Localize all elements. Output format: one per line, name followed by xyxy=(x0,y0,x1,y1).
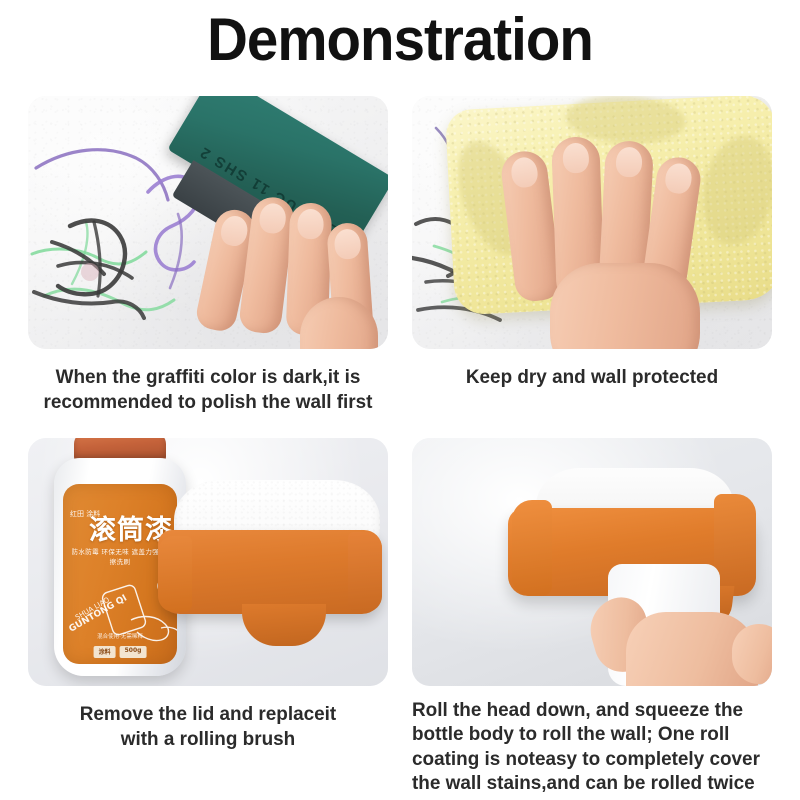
demonstration-page: Demonstration xyxy=(0,0,800,800)
fingernail xyxy=(218,213,250,248)
photo-rolling-paint-onto-wall xyxy=(412,438,772,686)
finger-group xyxy=(732,624,772,684)
fingernail xyxy=(510,156,539,189)
label-chip-weight: 500g xyxy=(120,646,147,658)
caption-line: Remove the lid and replaceit xyxy=(33,702,382,727)
hand-wiping-cloth xyxy=(504,123,754,349)
holder-arm-left xyxy=(512,500,552,596)
caption-line: the wall stains,and can be rolled twice xyxy=(412,771,761,796)
fingernail xyxy=(664,162,694,195)
photo-sanding-sponge-on-graffiti-wall: QETAOUC 11 SHS 2 xyxy=(28,96,388,349)
step-1-caption: When the graffiti color is dark,it is re… xyxy=(33,349,382,416)
holder-arm-right xyxy=(348,532,382,612)
caption-line: Roll the head down, and squeeze the xyxy=(412,698,761,723)
hand-holding-sponge xyxy=(204,157,388,349)
caption-line: recommended to polish the wall first xyxy=(33,390,382,415)
holder-stem xyxy=(242,604,326,646)
steps-row-1: QETAOUC 11 SHS 2 xyxy=(0,96,800,416)
palm xyxy=(550,263,700,349)
caption-line: Keep dry and wall protected xyxy=(417,365,766,390)
step-3-cell: 红田 涂料 滚筒漆 防水防霉 环保无味 遮盖力强 耐擦洗刷 1 xyxy=(0,438,400,800)
fingernail xyxy=(258,202,287,235)
caption-line: When the graffiti color is dark,it is xyxy=(33,365,382,390)
photo-paint-bottle-and-roller-head: 红田 涂料 滚筒漆 防水防霉 环保无味 遮盖力强 耐擦洗刷 1 xyxy=(28,438,388,686)
step-3-caption: Remove the lid and replaceit with a roll… xyxy=(33,686,382,753)
caption-line: with a rolling brush xyxy=(33,727,382,752)
steps-grid: QETAOUC 11 SHS 2 xyxy=(0,96,800,800)
fingernail xyxy=(334,228,362,260)
roller-holder xyxy=(158,530,382,614)
step-4-caption: Roll the head down, and squeeze the bott… xyxy=(412,686,761,800)
step-2-caption: Keep dry and wall protected xyxy=(417,349,766,390)
steps-row-2: 红田 涂料 滚筒漆 防水防霉 环保无味 遮盖力强 耐擦洗刷 1 xyxy=(0,438,800,800)
roller-brush-head xyxy=(158,480,382,670)
page-title: Demonstration xyxy=(24,8,776,71)
step-4-cell: Roll the head down, and squeeze the bott… xyxy=(400,438,800,800)
photo-wiping-wall-with-yellow-cloth xyxy=(412,96,772,349)
caption-line: bottle body to roll the wall; One roll xyxy=(412,722,761,747)
caption-line: after ten minutes xyxy=(412,796,761,800)
step-2-cell: Keep dry and wall protected xyxy=(400,96,800,416)
hand-squeezing-bottle xyxy=(582,572,772,686)
label-footer-text: 混合使用·无需稀释 xyxy=(71,633,169,641)
label-chip: 涂料 xyxy=(94,646,116,658)
caption-line: coating is noteasy to completely cover xyxy=(412,747,761,772)
holder-arm-left xyxy=(158,536,192,612)
fingernail xyxy=(562,143,589,174)
fingernail xyxy=(297,209,324,240)
label-chips: 涂料 500g xyxy=(94,646,147,658)
fingernail xyxy=(615,146,643,177)
step-1-cell: QETAOUC 11 SHS 2 xyxy=(0,96,400,416)
